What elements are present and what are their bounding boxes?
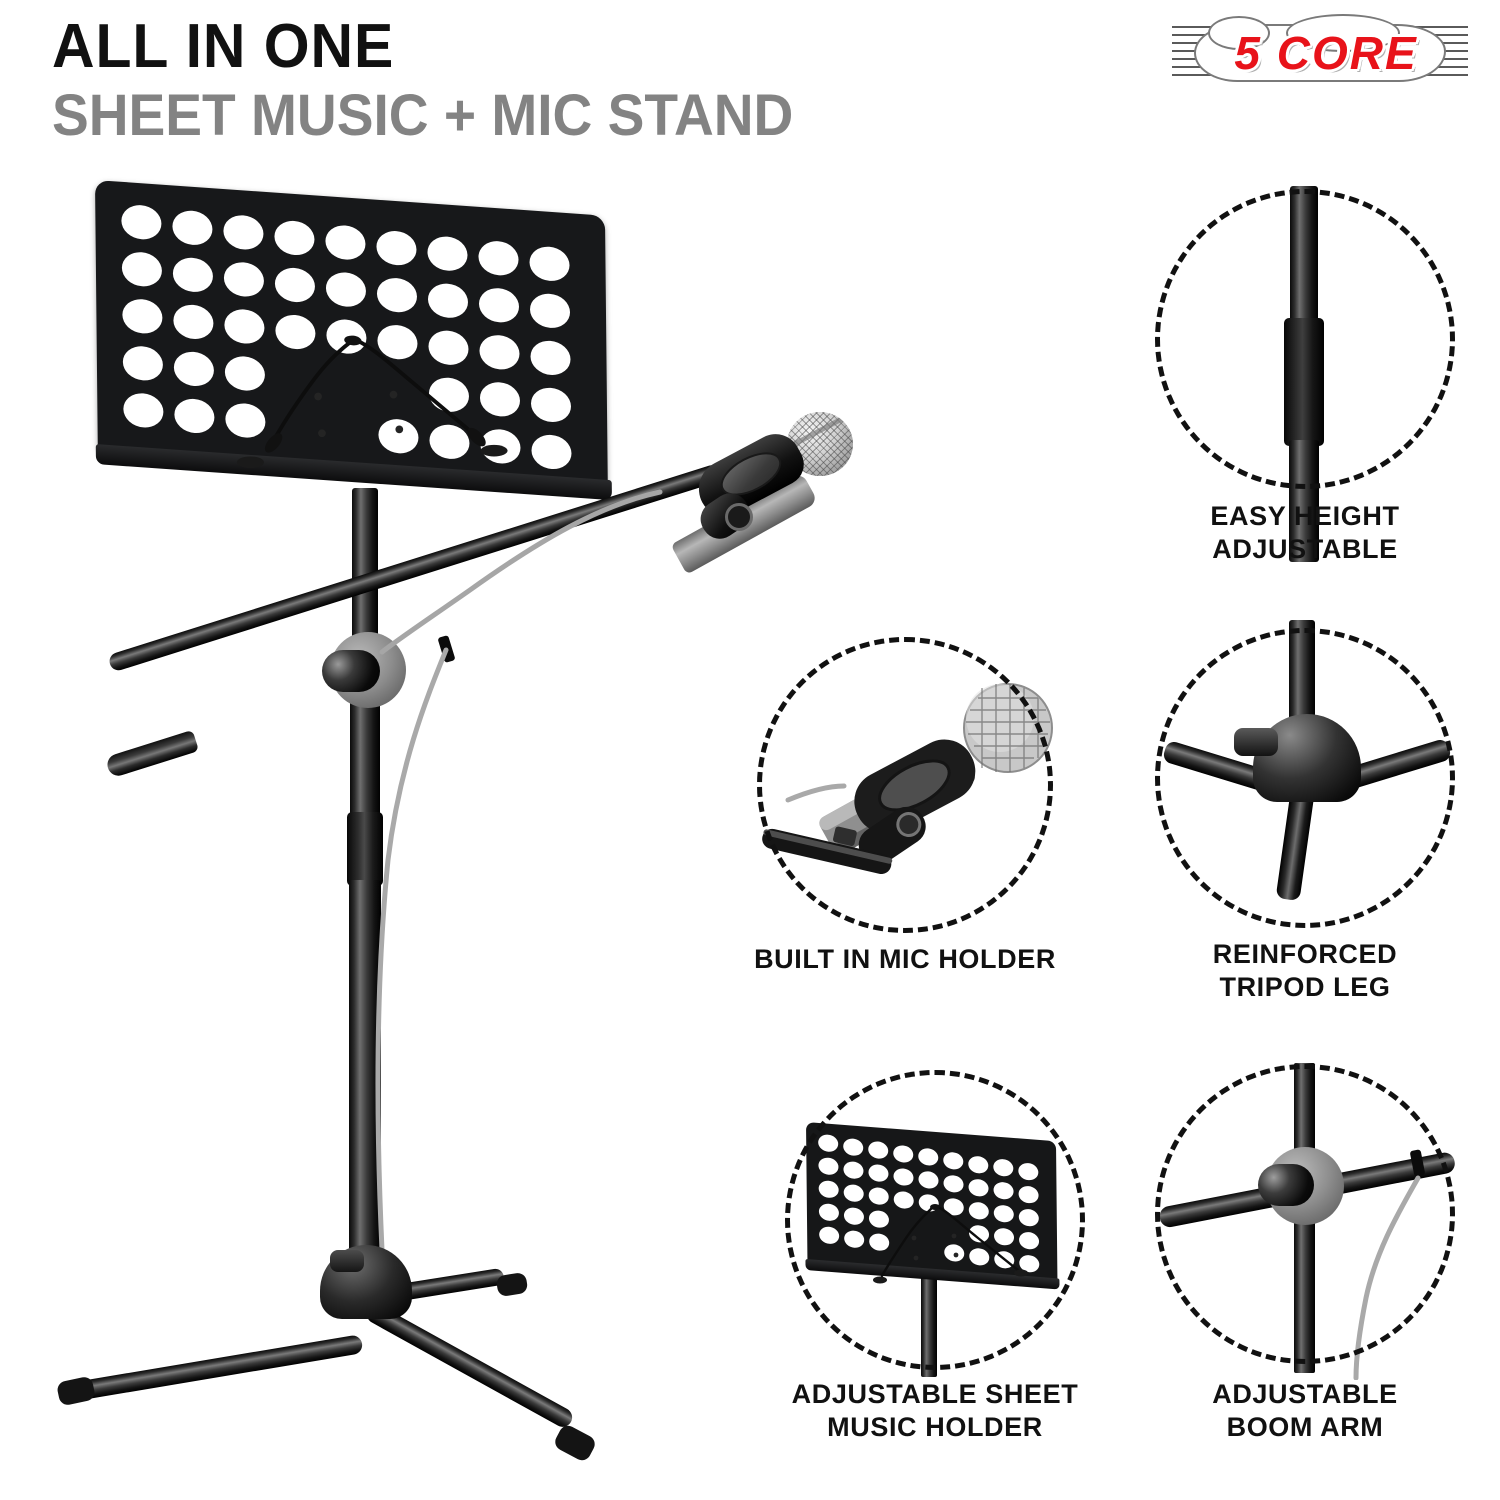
desk-hole [173, 256, 213, 293]
desk-hole [529, 245, 569, 282]
desk-hole [428, 329, 468, 366]
tripod-foot-left [56, 1376, 96, 1407]
callout-circle-sheet-music-holder [785, 1070, 1085, 1370]
desk-hole [274, 219, 314, 256]
desk-hole [478, 240, 518, 277]
tripod-lock-knob[interactable] [330, 1250, 364, 1272]
desk-hole [325, 225, 365, 262]
lower-pole-section [349, 880, 381, 1272]
brand-logo: 5 CORE [1172, 20, 1468, 86]
desk-hole [121, 204, 161, 241]
desk-hole [427, 235, 467, 272]
callout-circle-tripod-leg [1155, 628, 1455, 928]
desk-hole [530, 292, 570, 329]
desk-hole [326, 319, 366, 356]
desk-hole [122, 251, 162, 288]
desk-hole [224, 261, 264, 298]
desk-hole [123, 345, 163, 382]
desk-hole [174, 350, 214, 387]
tripod-leg-left [65, 1334, 364, 1402]
desk-hole [377, 277, 417, 314]
desk-hole [172, 209, 212, 246]
desk-hole [378, 418, 418, 455]
desk-hole [531, 386, 571, 423]
callout-circle-easy-height [1155, 189, 1455, 489]
callout-circle-boom-arm [1155, 1064, 1455, 1364]
desk-hole [275, 266, 315, 303]
desk-hole [122, 298, 162, 335]
feature-label-mic-holder: BUILT IN MIC HOLDER [735, 943, 1075, 976]
desk-hole [223, 214, 263, 251]
desk-hole [480, 428, 520, 465]
tripod-foot-right [496, 1272, 529, 1297]
sheet-music-desk [95, 180, 640, 510]
desk-hole [429, 423, 469, 460]
desk-hole [376, 230, 416, 267]
feature-label-tripod-leg: REINFORCED TRIPOD LEG [1145, 938, 1465, 1004]
desk-hole [530, 339, 570, 376]
desk-hole [275, 313, 315, 350]
desk-hole [480, 381, 520, 418]
desk-hole [479, 334, 519, 371]
desk-hole [479, 287, 519, 324]
desk-hole [225, 402, 265, 439]
boom-counterweight-tip [105, 730, 199, 779]
mic-clip-swivel-ring [725, 503, 753, 531]
tripod-foot-front [552, 1423, 598, 1464]
callout-circle-mic-holder [757, 637, 1053, 933]
desk-hole [428, 282, 468, 319]
feature-label-boom-arm: ADJUSTABLE BOOM ARM [1145, 1378, 1465, 1444]
brand-name: 5 CORE [1208, 26, 1444, 80]
feature-label-easy-height: EASY HEIGHT ADJUSTABLE [1145, 500, 1465, 566]
desk-hole [173, 303, 213, 340]
infographic-page: ALL IN ONE SHEET MUSIC + MIC STAND 5 COR… [0, 0, 1500, 1500]
desk-hole [224, 308, 264, 345]
desk-hole [326, 272, 366, 309]
tripod-leg-right [399, 1268, 505, 1301]
cable-tie [437, 635, 455, 663]
tripod-leg-front [363, 1301, 575, 1430]
desk-hole [377, 324, 417, 361]
desk-hole [123, 392, 163, 429]
desk-panel [95, 180, 608, 486]
height-adjust-collar[interactable] [347, 812, 383, 886]
desk-hole [429, 376, 469, 413]
desk-hole-grid [121, 204, 593, 469]
desk-hole [225, 355, 265, 392]
desk-hole [174, 397, 214, 434]
feature-label-sheet-music-holder: ADJUSTABLE SHEET MUSIC HOLDER [765, 1378, 1105, 1444]
desk-hole [531, 433, 571, 470]
boom-clutch-knob[interactable] [322, 650, 380, 692]
